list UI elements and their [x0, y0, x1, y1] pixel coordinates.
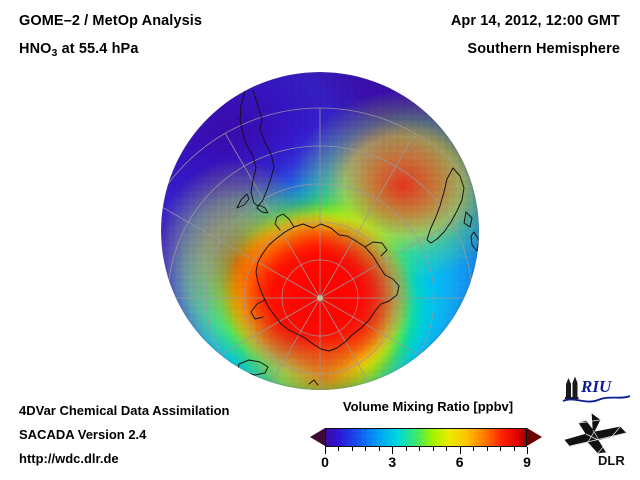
colorbar-major-tick: [392, 447, 393, 454]
timestamp-label: Apr 14, 2012, 12:00 GMT: [451, 13, 620, 29]
colorbar-tick-label: 6: [456, 454, 464, 470]
page-title: GOME–2 / MetOp Analysis: [19, 13, 202, 29]
colorbar-minor-tick: [473, 447, 474, 451]
colorbar-minor-tick: [338, 447, 339, 451]
riu-logo: RIU: [560, 375, 632, 405]
colorbar-tick-label: 0: [321, 454, 329, 470]
colorbar-major-tick: [527, 447, 528, 454]
website-url-label[interactable]: http://wdc.dlr.de: [19, 451, 119, 466]
colorbar-minor-tick: [419, 447, 420, 451]
colorbar-minor-tick: [446, 447, 447, 451]
colorbar: [309, 428, 543, 448]
dlr-logo-text: DLR: [598, 453, 625, 468]
colorbar-major-tick: [325, 447, 326, 454]
region-label: Southern Hemisphere: [467, 41, 620, 57]
species-suffix: at 55.4 hPa: [57, 41, 138, 57]
assimilation-method-label: 4DVar Chemical Data Assimilation: [19, 403, 230, 418]
colorbar-tick-labels: 0369: [309, 454, 543, 474]
colorbar-minor-tick: [406, 447, 407, 451]
colorbar-gradient-strip: [325, 428, 527, 447]
colorbar-tick-label: 3: [388, 454, 396, 470]
dlr-logo: DLR: [562, 412, 632, 468]
colorbar-tick-label: 9: [523, 454, 531, 470]
species-level-label: HNO3 at 55.4 hPa: [19, 41, 138, 59]
riu-logo-text: RIU: [580, 377, 612, 396]
colorbar-minor-tick: [433, 447, 434, 451]
globe-limb-shading: [161, 72, 479, 390]
colorbar-texture: [326, 429, 526, 446]
colorbar-minor-tick: [487, 447, 488, 451]
version-label: SACADA Version 2.4: [19, 427, 146, 442]
colorbar-minor-tick: [379, 447, 380, 451]
colorbar-tick-marks: [309, 447, 543, 454]
colorbar-title: Volume Mixing Ratio [ppbv]: [325, 399, 531, 414]
species-prefix: HNO: [19, 41, 52, 57]
colorbar-high-cap-arrow: [527, 428, 542, 446]
colorbar-minor-tick: [365, 447, 366, 451]
figure-canvas: GOME–2 / MetOp Analysis HNO3 at 55.4 hPa…: [0, 0, 640, 480]
colorbar-minor-tick: [500, 447, 501, 451]
colorbar-minor-tick: [514, 447, 515, 451]
colorbar-low-cap-arrow: [310, 428, 325, 446]
colorbar-minor-tick: [352, 447, 353, 451]
polar-projection-map: [161, 72, 479, 390]
colorbar-major-tick: [460, 447, 461, 454]
